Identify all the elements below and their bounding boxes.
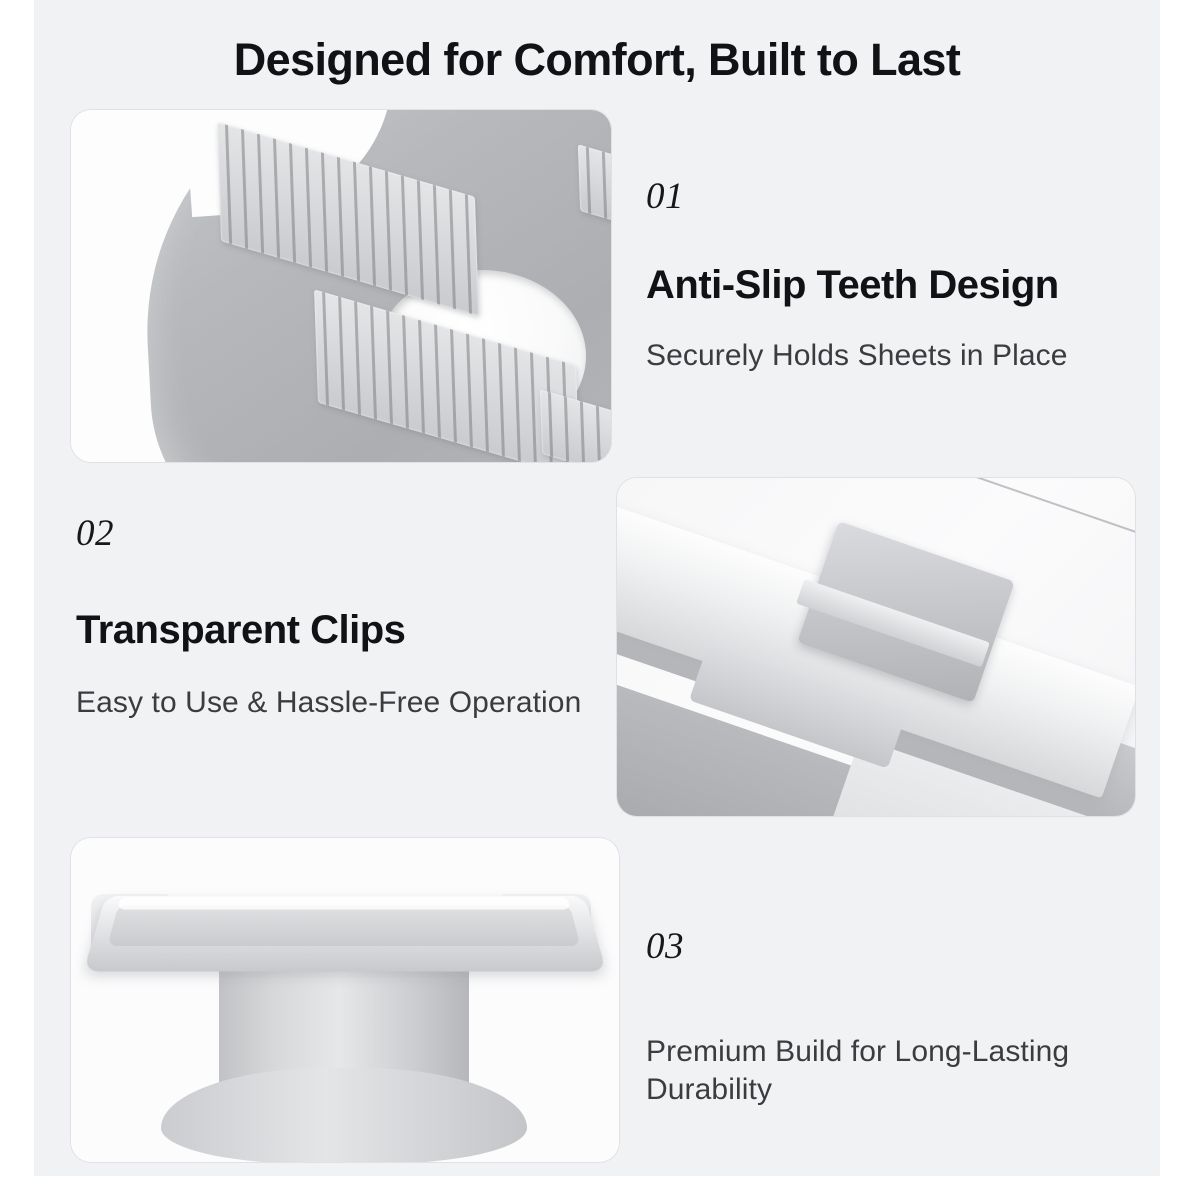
pedestal-base-photo [71,838,619,1162]
feature-block-2: 02 Transparent Clips Easy to Use & Hassl… [76,515,596,722]
feature-image-card-3 [71,838,619,1162]
feature-heading-01: Anti-Slip Teeth Design [646,263,1166,307]
page-title: Designed for Comfort, Built to Last [34,36,1160,83]
feature-block-3: 03 Premium Build for Long-Lasting Durabi… [646,928,1166,1110]
feature-image-card-2 [617,478,1135,816]
feature-number-01: 01 [646,178,1166,215]
feature-image-card-1 [71,110,611,462]
infographic-canvas: Designed for Comfort, Built to Last [34,0,1160,1176]
feature-number-03: 03 [646,928,1166,965]
feature-subtitle-02: Easy to Use & Hassle-Free Operation [76,684,596,722]
feature-block-1: 01 Anti-Slip Teeth Design Securely Holds… [646,178,1166,375]
anti-slip-teeth-photo [71,110,611,462]
feature-subtitle-01: Securely Holds Sheets in Place [646,337,1166,375]
feature-heading-02: Transparent Clips [76,608,596,652]
feature-subtitle-03: Premium Build for Long-Lasting Durabilit… [646,1033,1166,1110]
feature-number-02: 02 [76,515,596,552]
transparent-clip-photo [617,478,1135,816]
